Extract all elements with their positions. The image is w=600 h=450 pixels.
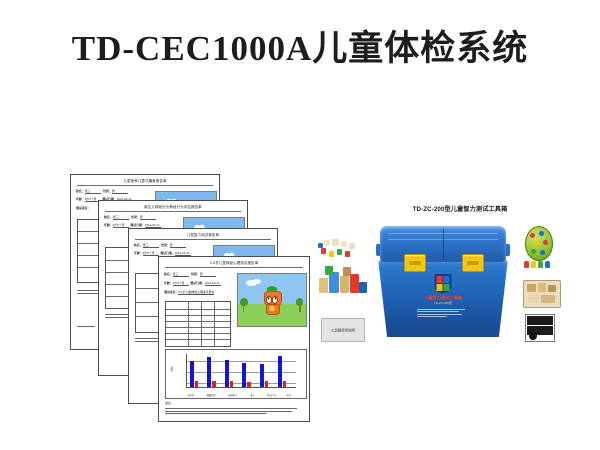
bar-red — [283, 381, 286, 388]
report-sheet-4-title: 0-6岁儿童神经心理测试报告单 — [159, 260, 309, 265]
bar-red — [195, 381, 198, 387]
field-name: 姓名：张三 性别：男 — [104, 215, 156, 220]
chart-xtick: 总分 — [286, 393, 291, 397]
chart-xtick: 语言 — [250, 393, 255, 397]
bar-group — [278, 356, 286, 387]
wooden-blocks-set — [317, 264, 369, 298]
toolbox-front-label: 儿童智力测试工具箱 TD-ZC-200型 — [411, 274, 475, 324]
report-sheet-1-title: 儿童营养儿童与膳食报告单 — [71, 178, 219, 183]
latch-right[interactable] — [462, 254, 484, 272]
bar-blue — [225, 360, 229, 387]
toolkit-label: TD-ZC-200型儿童智力测试工具箱 — [375, 204, 545, 213]
development-quotient-bar-chart: 分值 — [165, 349, 307, 399]
cartoon-cat-picture — [237, 273, 307, 327]
report-sheet-stack: 儿童营养儿童与膳食报告单 姓名：张三 性别：男 年龄：3岁6个月 测试日期：20… — [70, 170, 340, 425]
result-table — [165, 301, 231, 347]
promo-image-canvas: TD-CEC1000A儿童体检系统 儿童营养儿童与膳食报告单 姓名：张三 性别：… — [0, 0, 600, 450]
bar-blue — [242, 363, 246, 387]
four-color-shield-logo — [435, 274, 452, 293]
note-title: 备注： — [165, 401, 174, 405]
chart-xtick: 适应能力 — [228, 393, 237, 397]
bar-blue — [190, 361, 194, 387]
bar-red — [230, 381, 233, 387]
instruction-manual: 工具箱使用说明 — [321, 318, 365, 342]
divider — [105, 211, 241, 212]
bar-red — [265, 381, 268, 387]
bar-group — [225, 360, 233, 387]
chart-xtick: 精细动作 — [207, 393, 216, 397]
report-sheet-3-title: 儿童智力测试报告单 — [129, 232, 277, 237]
report-sheet-4[interactable]: 0-6岁儿童神经心理测试报告单 姓名：张三 性别：男 年龄：3岁6个月 测试日期… — [158, 256, 310, 422]
chart-ylabel: 分值 — [169, 366, 173, 371]
front-label-sub: TD-ZC-200型 — [411, 301, 475, 305]
field-age: 年龄：3岁6个月 测试日期：2014-03-12 — [164, 281, 221, 286]
bar-blue — [260, 364, 264, 387]
divider — [77, 185, 213, 186]
bar-red — [212, 381, 215, 388]
field-item: 测试项目：0-6岁儿童神经心理发育量表 — [164, 290, 214, 295]
report-sheet-2-title: 新生儿神经行为神经行为评估报告单 — [99, 204, 247, 209]
colored-beads-set — [317, 238, 361, 260]
cat-character — [264, 288, 280, 315]
latch-left[interactable] — [404, 254, 426, 272]
manual-label: 工具箱使用说明 — [331, 328, 355, 333]
decorated-egg-toy — [520, 226, 560, 274]
page-title: TD-CEC1000A儿童体检系统 — [0, 20, 600, 71]
chart-xtick: 大运动 — [187, 393, 194, 397]
toolbox-lid — [380, 226, 506, 262]
field-name: 姓名：张三 性别：男 — [76, 189, 128, 194]
bar-group — [190, 361, 198, 387]
wooden-puzzle-set — [523, 280, 561, 308]
bar-group — [242, 363, 250, 387]
divider — [165, 267, 303, 268]
toolkit-scene: TD-ZC-200型儿童智力测试工具箱 工具箱使用说明 — [315, 200, 590, 360]
front-label-fineprint — [417, 307, 469, 319]
chart-xtick: 社交行为 — [267, 393, 276, 397]
bar-red — [247, 382, 250, 388]
note-text — [165, 407, 303, 416]
bar-blue — [278, 356, 282, 387]
field-name: 姓名：张三 性别：男 — [164, 272, 216, 277]
field-name: 姓名：张三 性别：男 — [134, 243, 186, 248]
bar-group — [207, 357, 215, 387]
blue-toolbox[interactable]: 儿童智力测试工具箱 TD-ZC-200型 — [378, 226, 508, 341]
lid-seam — [443, 228, 444, 260]
chart-plot-area — [186, 354, 297, 389]
field-item: 测试项目： — [76, 206, 90, 210]
bar-blue — [207, 357, 211, 387]
black-white-flash-cards — [525, 314, 555, 342]
divider — [135, 239, 271, 240]
bar-group — [260, 364, 268, 387]
